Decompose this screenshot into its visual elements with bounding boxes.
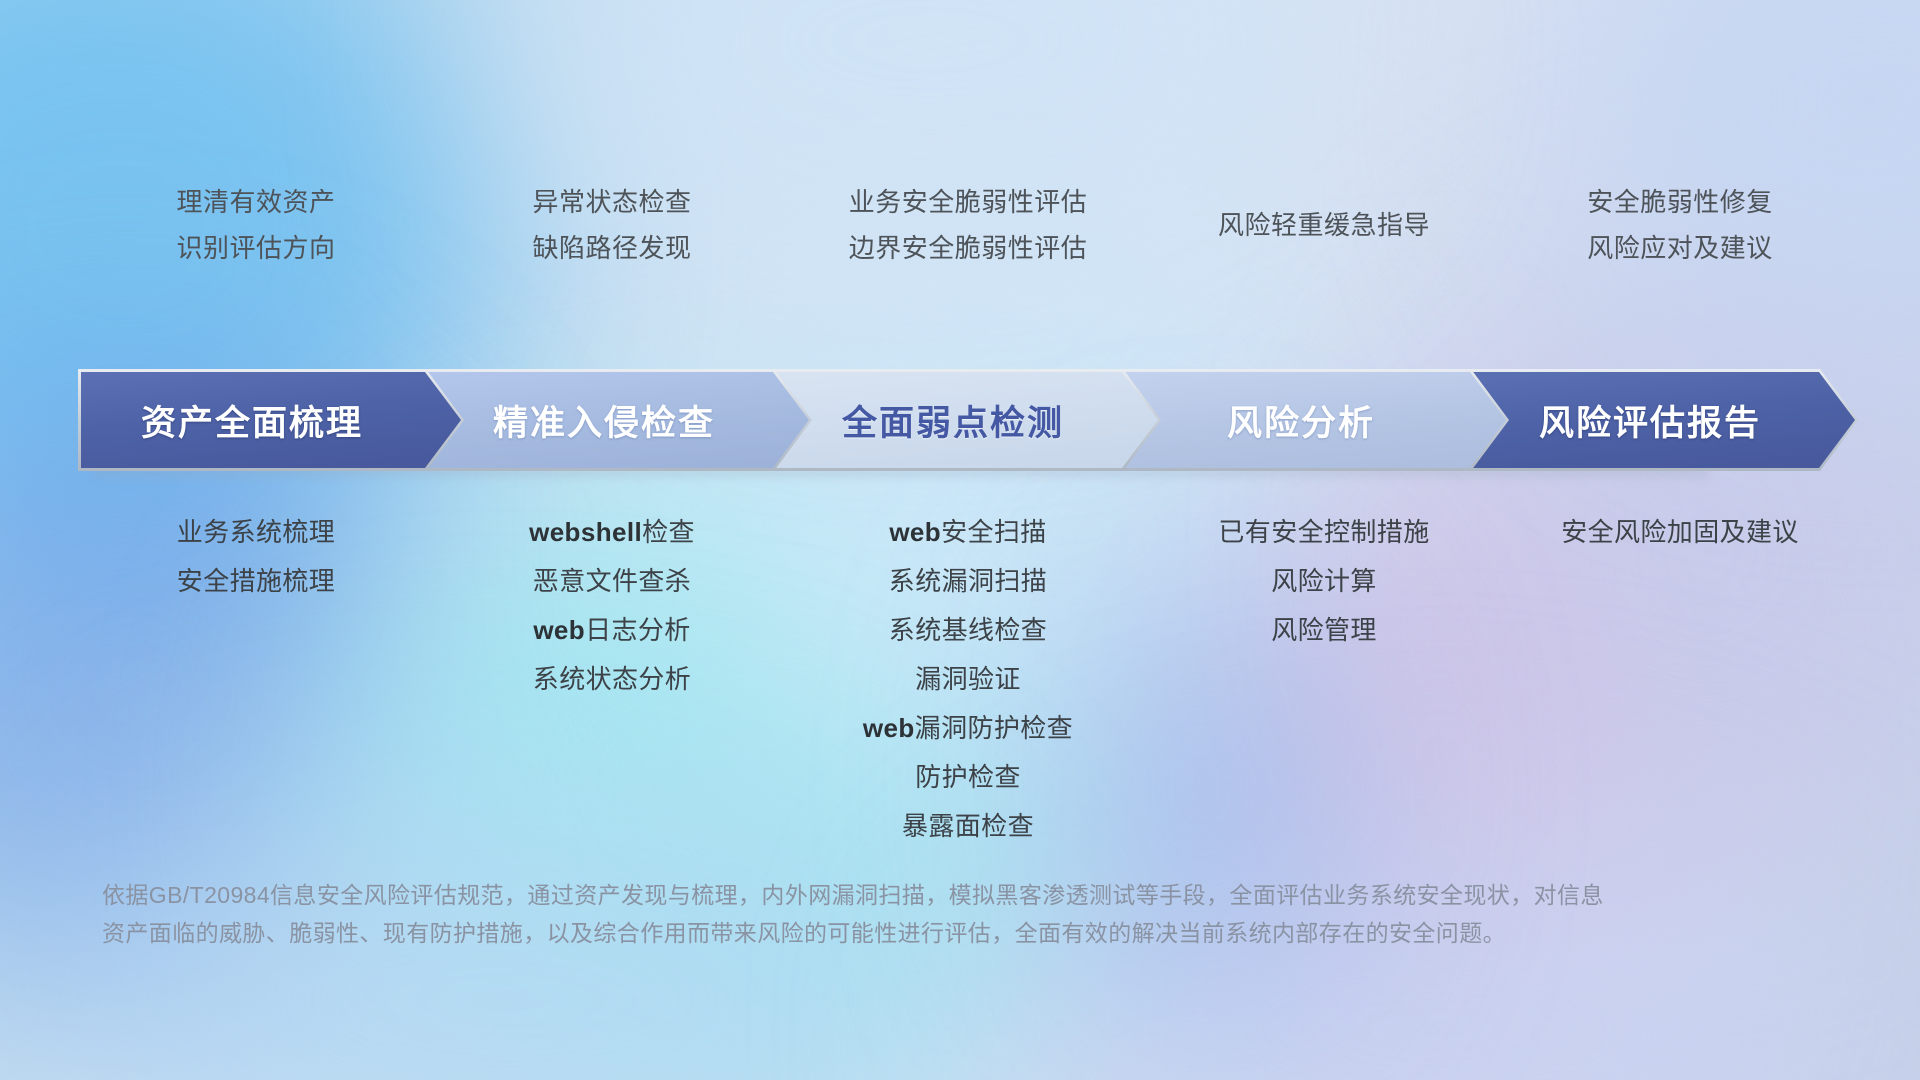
top-caption-group: 异常状态检查缺陷路径发现 [532, 178, 691, 272]
stage-item: web日志分析 [533, 606, 690, 655]
top-caption: 安全脆弱性修复 [1587, 182, 1773, 222]
stage-item-text: 系统状态分析 [533, 664, 691, 694]
top-caption: 异常状态检查 [532, 182, 691, 222]
stage-item-keyword: web [533, 615, 585, 645]
top-caption: 缺陷路径发现 [532, 228, 691, 268]
stage-item-text: 安全扫描 [941, 517, 1047, 547]
top-caption-column-4: 风险轻重缓急指导 [1146, 178, 1502, 272]
chevron-process-band: 资产全面梳理精准入侵检查全面弱点检测风险分析风险评估报告 [78, 369, 1858, 471]
footer-line-2: 资产面临的威胁、脆弱性、现有防护措施，以及综合作用而带来风险的可能性进行评估，全… [102, 914, 1622, 952]
stage-item-text: 风险管理 [1271, 615, 1377, 645]
stage-item-text: 安全风险加固及建议 [1561, 517, 1799, 547]
stage-item-text: 暴露面检查 [902, 811, 1034, 841]
stage-item-text: 日志分析 [585, 615, 691, 645]
bottom-item-row: 业务系统梳理安全措施梳理webshell检查恶意文件查杀web日志分析系统状态分… [78, 508, 1858, 851]
stage-item-text: 安全措施梳理 [177, 566, 335, 596]
stage-item: 已有安全控制措施 [1218, 508, 1429, 557]
chevron-label: 资产全面梳理 [78, 395, 464, 446]
top-caption-column-3: 业务安全脆弱性评估边界安全脆弱性评估 [790, 178, 1146, 272]
stage-item-text: 风险计算 [1271, 566, 1377, 596]
stage-item-column-5: 安全风险加固及建议 [1502, 508, 1858, 851]
top-caption: 理清有效资产 [176, 182, 335, 222]
top-caption-column-2: 异常状态检查缺陷路径发现 [434, 178, 790, 272]
stage-item: 系统漏洞扫描 [889, 557, 1047, 606]
stage-item: web漏洞防护检查 [863, 704, 1073, 753]
top-caption-column-5: 安全脆弱性修复风险应对及建议 [1502, 178, 1858, 272]
footer-description: 依据GB/T20984信息安全风险评估规范，通过资产发现与梳理，内外网漏洞扫描，… [102, 876, 1622, 952]
stage-item: 暴露面检查 [902, 802, 1034, 851]
stage-item: 漏洞验证 [915, 655, 1021, 704]
stage-item-text: 防护检查 [915, 762, 1021, 792]
top-caption: 风险应对及建议 [1587, 228, 1773, 268]
stage-item-keyword: web [863, 713, 915, 743]
top-caption: 边界安全脆弱性评估 [849, 228, 1088, 268]
stage-item: 防护检查 [915, 753, 1021, 802]
stage-item-keyword: webshell [529, 517, 642, 547]
stage-item: 系统基线检查 [889, 606, 1047, 655]
stage-item-text: 漏洞防护检查 [915, 713, 1073, 743]
stage-item: webshell检查 [529, 508, 695, 557]
stage-item-keyword: web [889, 517, 941, 547]
top-caption-row: 理清有效资产识别评估方向异常状态检查缺陷路径发现业务安全脆弱性评估边界安全脆弱性… [78, 178, 1858, 272]
stage-item-text: 已有安全控制措施 [1218, 517, 1429, 547]
top-caption-column-1: 理清有效资产识别评估方向 [78, 178, 434, 272]
top-caption: 业务安全脆弱性评估 [849, 182, 1088, 222]
stage-item-text: 恶意文件查杀 [533, 566, 691, 596]
stage-item-text: 系统漏洞扫描 [889, 566, 1047, 596]
diagram-canvas: 理清有效资产识别评估方向异常状态检查缺陷路径发现业务安全脆弱性评估边界安全脆弱性… [0, 0, 1920, 1080]
stage-item: 安全风险加固及建议 [1561, 508, 1799, 557]
stage-item: 恶意文件查杀 [533, 557, 691, 606]
stage-item-text: 检查 [642, 517, 695, 547]
stage-item-text: 漏洞验证 [915, 664, 1021, 694]
stage-item-text: 业务系统梳理 [177, 517, 335, 547]
top-caption-group: 业务安全脆弱性评估边界安全脆弱性评估 [849, 178, 1088, 272]
stage-item: 系统状态分析 [533, 655, 691, 704]
stage-item-text: 系统基线检查 [889, 615, 1047, 645]
stage-item-column-2: webshell检查恶意文件查杀web日志分析系统状态分析 [434, 508, 790, 851]
top-caption-group: 风险轻重缓急指导 [1218, 178, 1430, 272]
stage-item: 安全措施梳理 [177, 557, 335, 606]
top-caption: 风险轻重缓急指导 [1218, 205, 1430, 245]
top-caption: 识别评估方向 [176, 228, 335, 268]
stage-item: 业务系统梳理 [177, 508, 335, 557]
top-caption-group: 安全脆弱性修复风险应对及建议 [1587, 178, 1773, 272]
chevron-stage-1[interactable]: 资产全面梳理 [78, 369, 464, 471]
stage-item-column-3: web安全扫描系统漏洞扫描系统基线检查漏洞验证web漏洞防护检查防护检查暴露面检… [790, 508, 1146, 851]
stage-item: 风险计算 [1271, 557, 1377, 606]
footer-line-1: 依据GB/T20984信息安全风险评估规范，通过资产发现与梳理，内外网漏洞扫描，… [102, 876, 1622, 914]
top-caption-group: 理清有效资产识别评估方向 [176, 178, 335, 272]
stage-item: 风险管理 [1271, 606, 1377, 655]
stage-item: web安全扫描 [889, 508, 1046, 557]
stage-item-column-1: 业务系统梳理安全措施梳理 [78, 508, 434, 851]
stage-item-column-4: 已有安全控制措施风险计算风险管理 [1146, 508, 1502, 851]
